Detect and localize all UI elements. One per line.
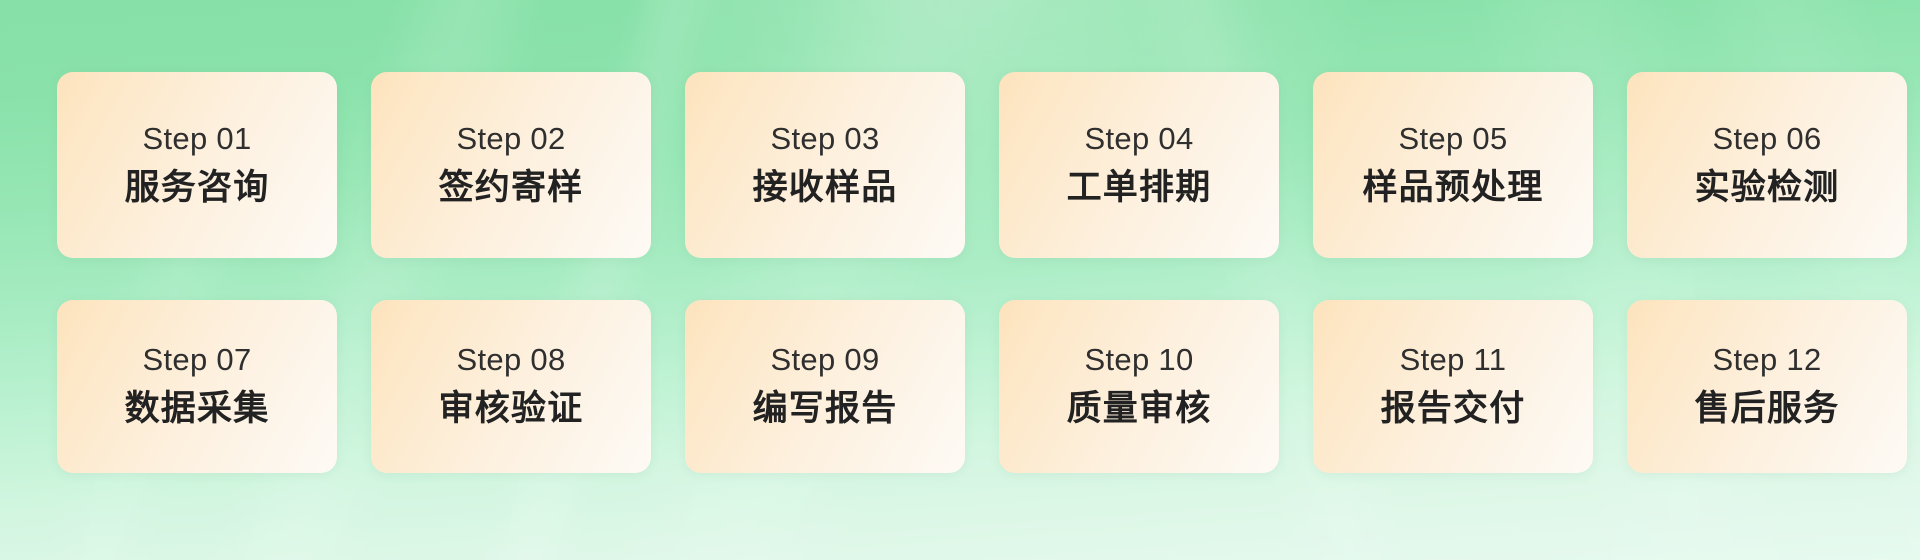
step-card-03[interactable]: Step 03 接收样品 [685,72,965,258]
step-card-title: 数据采集 [125,386,270,432]
step-card-title: 接收样品 [753,165,898,211]
step-card-title: 报告交付 [1381,386,1526,432]
step-card-title: 实验检测 [1695,165,1840,211]
step-card-06[interactable]: Step 06 实验检测 [1627,72,1907,258]
step-card-number: Step 11 [1400,341,1507,380]
process-steps-page: Step 01 服务咨询 Step 02 签约寄样 Step 03 接收样品 S… [0,0,1920,560]
step-card-title: 售后服务 [1695,386,1840,432]
step-card-11[interactable]: Step 11 报告交付 [1313,300,1593,473]
step-card-number: Step 06 [1713,120,1822,159]
step-card-number: Step 05 [1399,120,1508,159]
step-card-01[interactable]: Step 01 服务咨询 [57,72,337,258]
step-card-number: Step 08 [457,341,566,380]
step-card-10[interactable]: Step 10 质量审核 [999,300,1279,473]
step-card-number: Step 02 [457,120,566,159]
step-card-title: 服务咨询 [125,165,270,211]
step-card-04[interactable]: Step 04 工单排期 [999,72,1279,258]
step-card-number: Step 07 [143,341,252,380]
step-card-number: Step 10 [1085,341,1194,380]
step-card-title: 签约寄样 [439,165,584,211]
step-card-number: Step 12 [1713,341,1822,380]
step-card-title: 样品预处理 [1362,165,1543,211]
process-steps-grid: Step 01 服务咨询 Step 02 签约寄样 Step 03 接收样品 S… [57,72,1854,473]
step-card-title: 审核验证 [439,386,584,432]
step-card-title: 质量审核 [1067,386,1212,432]
step-card-number: Step 01 [143,120,252,159]
step-card-number: Step 04 [1085,120,1194,159]
step-card-07[interactable]: Step 07 数据采集 [57,300,337,473]
step-card-05[interactable]: Step 05 样品预处理 [1313,72,1593,258]
step-card-08[interactable]: Step 08 审核验证 [371,300,651,473]
step-card-02[interactable]: Step 02 签约寄样 [371,72,651,258]
step-card-09[interactable]: Step 09 编写报告 [685,300,965,473]
step-card-number: Step 09 [771,341,880,380]
step-card-12[interactable]: Step 12 售后服务 [1627,300,1907,473]
step-card-title: 工单排期 [1067,165,1212,211]
step-card-title: 编写报告 [753,386,898,432]
step-card-number: Step 03 [771,120,880,159]
